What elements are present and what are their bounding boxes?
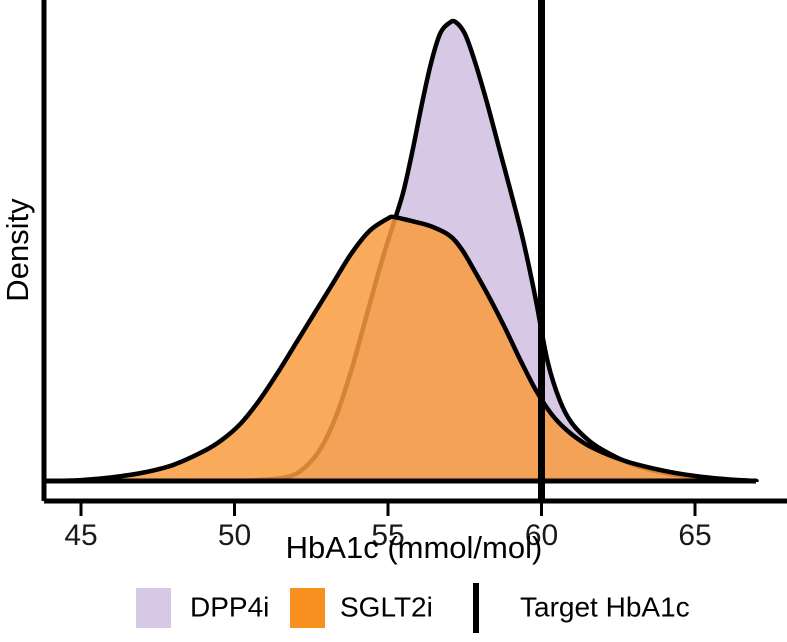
legend-item-target-hba1c[interactable]: Target HbA1c	[473, 583, 690, 633]
legend-item-dpp4i[interactable]: DPP4i	[136, 588, 269, 628]
legend-swatch-dpp4i	[136, 588, 171, 628]
legend-label-target-hba1c: Target HbA1c	[520, 591, 690, 622]
chart-legend: DPP4iSGLT2iTarget HbA1c	[136, 583, 690, 633]
legend-vline-swatch	[473, 583, 479, 633]
density-plot-figure: 4550556065 HbA1c (mmol/mol) Density DPP4…	[0, 0, 787, 642]
x-tick-label-65: 65	[678, 519, 711, 552]
legend-swatch-sglt2i	[290, 588, 325, 628]
y-axis-title: Density	[0, 198, 35, 302]
legend-label-dpp4i: DPP4i	[190, 591, 269, 622]
x-axis-title: HbA1c (mmol/mol)	[286, 530, 543, 565]
x-tick-label-45: 45	[64, 519, 97, 552]
chart-canvas: 4550556065 HbA1c (mmol/mol) Density DPP4…	[0, 0, 787, 642]
legend-label-sglt2i: SGLT2i	[340, 591, 433, 622]
x-tick-label-50: 50	[218, 519, 251, 552]
legend-item-sglt2i[interactable]: SGLT2i	[290, 588, 433, 628]
